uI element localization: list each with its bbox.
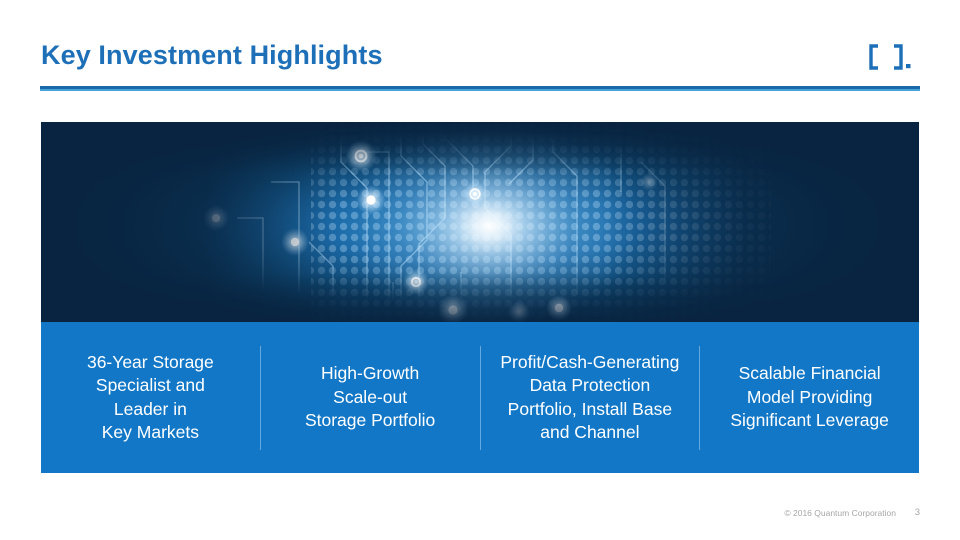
title-underline-rule-light <box>40 89 920 91</box>
footer-copyright: © 2016 Quantum Corporation <box>784 508 896 518</box>
highlight-line: Key Markets <box>49 421 252 445</box>
highlight-financial-model: Scalable Financial Model Providing Signi… <box>700 362 919 433</box>
highlight-scale-out-portfolio: High-Growth Scale-out Storage Portfolio <box>261 362 480 433</box>
highlight-line: Portfolio, Install Base <box>489 398 692 422</box>
slide-canvas: Key Investment Highlights <box>0 0 960 540</box>
highlight-line: Significant Leverage <box>708 409 911 433</box>
hero-image <box>41 122 919 322</box>
highlight-line: High-Growth <box>269 362 472 386</box>
highlight-line: Specialist and <box>49 374 252 398</box>
highlight-storage-specialist: 36-Year Storage Specialist and Leader in… <box>41 351 260 445</box>
highlight-line: Storage Portfolio <box>269 409 472 433</box>
page-title: Key Investment Highlights <box>41 40 383 71</box>
highlight-line: Profit/Cash-Generating <box>489 351 692 375</box>
highlight-line: Data Protection <box>489 374 692 398</box>
highlight-line: Model Providing <box>708 386 911 410</box>
quantum-bracket-logo <box>864 41 924 73</box>
highlight-data-protection: Profit/Cash-Generating Data Protection P… <box>481 351 700 445</box>
highlights-band: 36-Year Storage Specialist and Leader in… <box>41 322 919 473</box>
highlight-line: Scale-out <box>269 386 472 410</box>
highlight-line: Leader in <box>49 398 252 422</box>
highlight-line: 36-Year Storage <box>49 351 252 375</box>
page-number: 3 <box>915 507 920 518</box>
highlight-line: and Channel <box>489 421 692 445</box>
highlight-line: Scalable Financial <box>708 362 911 386</box>
